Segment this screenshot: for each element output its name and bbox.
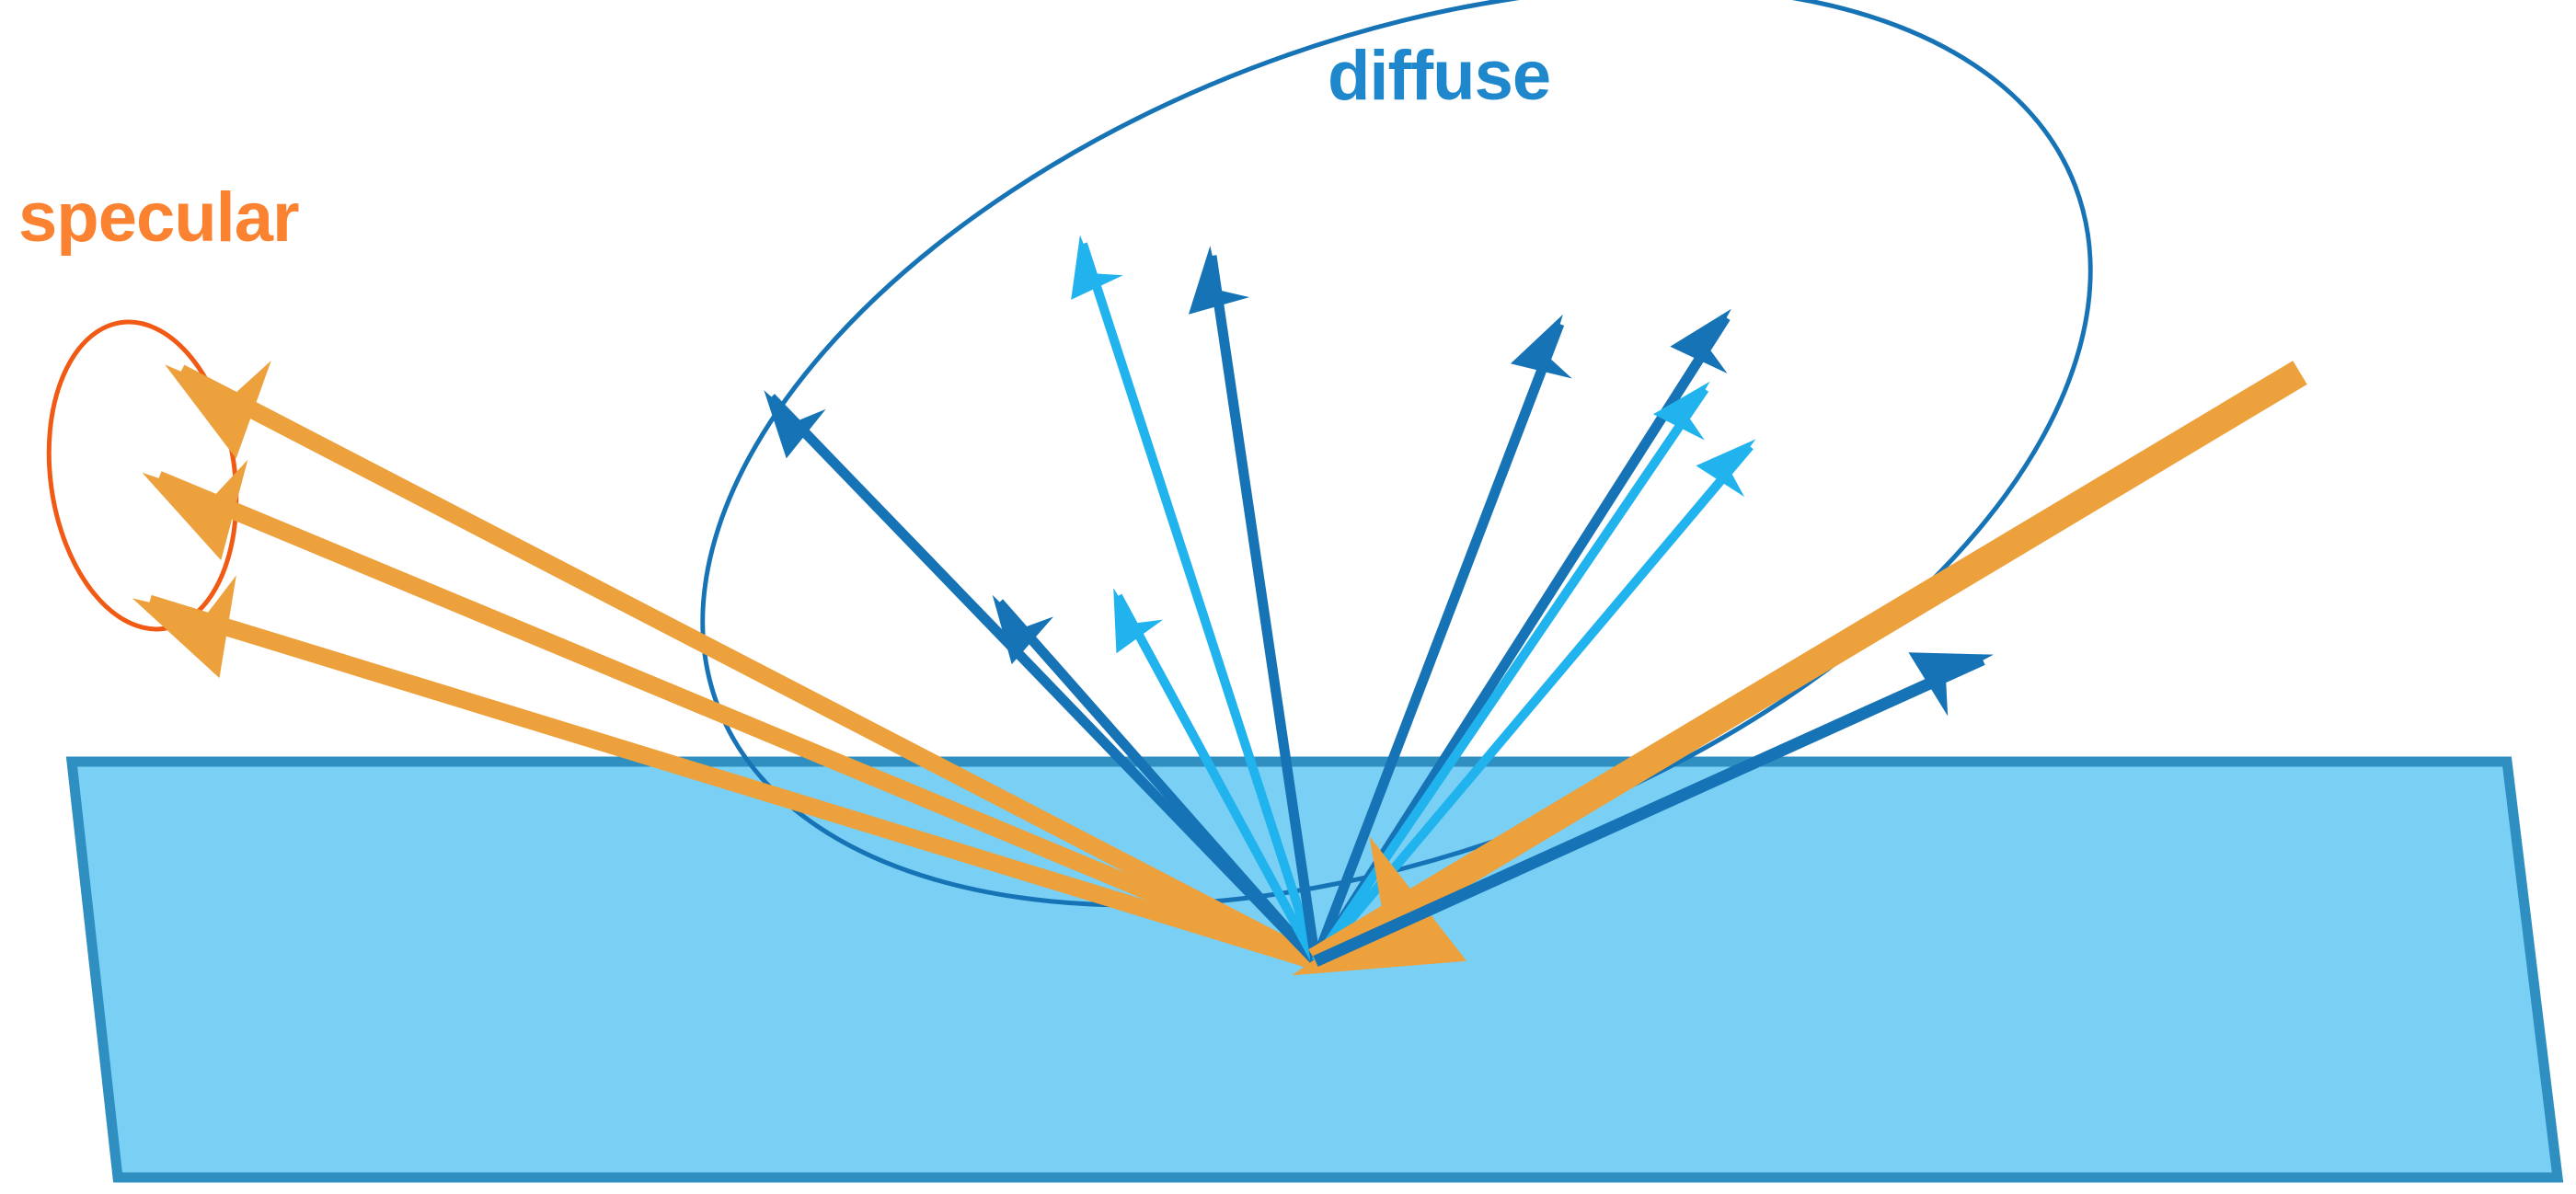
reflection-diagram: specular diffuse (0, 0, 2576, 1194)
specular-lobe-ellipse (30, 310, 256, 642)
diffuse-label: diffuse (1328, 37, 1550, 115)
reflective-surface-slab (72, 762, 2558, 1177)
specular-label: specular (18, 178, 299, 257)
scene-canvas: specular diffuse (0, 0, 2576, 1194)
